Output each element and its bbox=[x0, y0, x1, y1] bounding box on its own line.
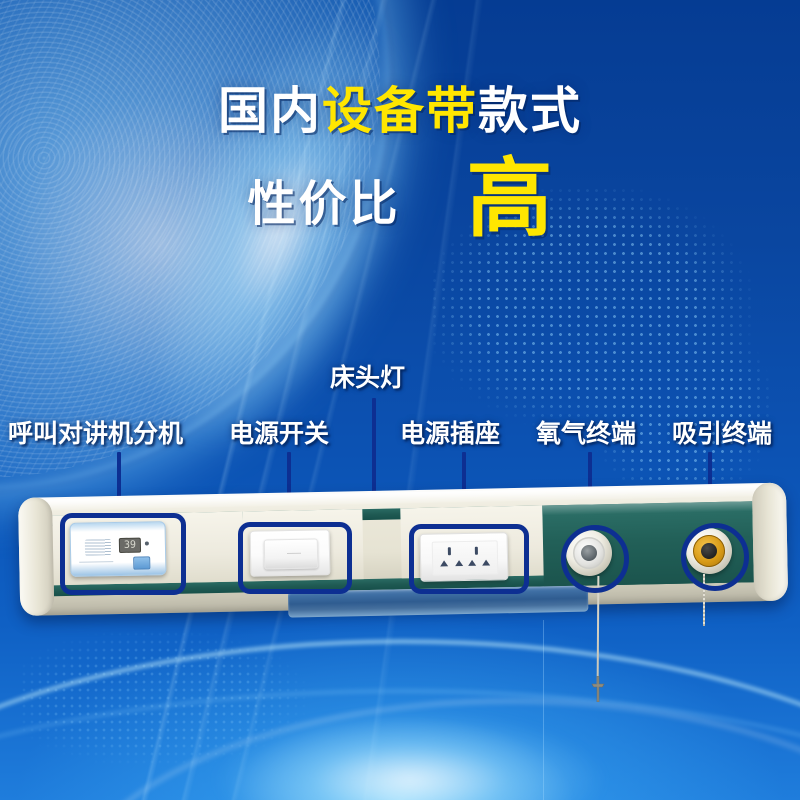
highlight-box-intercom bbox=[60, 513, 186, 595]
product-banner: 国内设备带款式 性价比高 呼叫对讲机分机 电源开关 床头灯 电源插座 氧气终端 … bbox=[0, 0, 800, 800]
highlight-box-oxygen bbox=[561, 525, 629, 593]
callout-label-intercom: 呼叫对讲机分机 bbox=[8, 414, 183, 450]
callout-layer: 呼叫对讲机分机 电源开关 床头灯 电源插座 氧气终端 吸引终端 bbox=[0, 0, 800, 800]
callout-label-suction: 吸引终端 bbox=[672, 414, 772, 450]
callout-label-oxygen: 氧气终端 bbox=[536, 414, 636, 450]
highlight-box-power-switch bbox=[238, 522, 352, 594]
pull-cord-handle-icon[interactable] bbox=[588, 676, 608, 702]
callout-label-power-switch: 电源开关 bbox=[229, 414, 329, 450]
callout-label-power-socket: 电源插座 bbox=[400, 414, 500, 450]
callout-label-bed-lamp: 床头灯 bbox=[330, 358, 405, 394]
highlight-box-suction bbox=[681, 523, 749, 591]
highlight-box-power-socket bbox=[409, 524, 529, 594]
